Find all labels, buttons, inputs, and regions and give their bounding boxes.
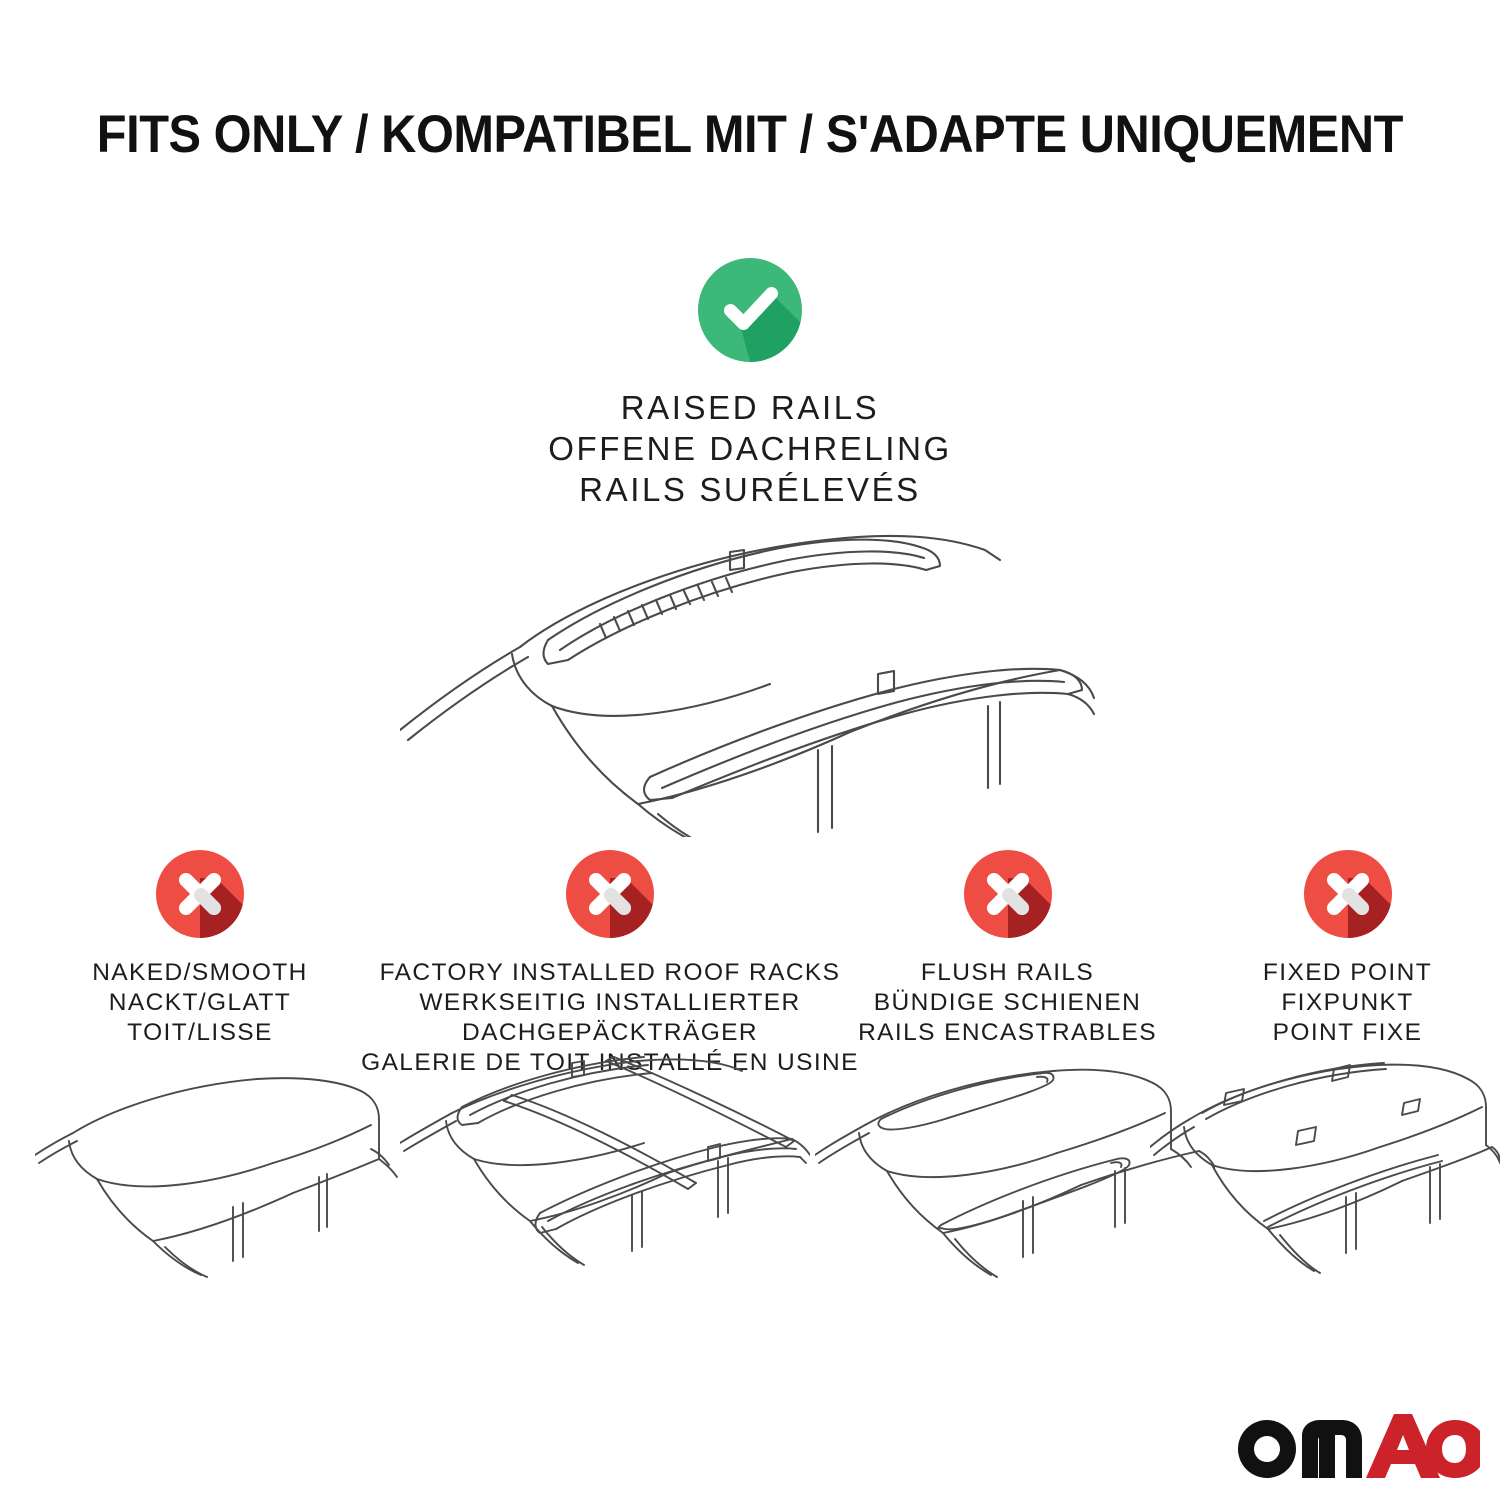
compatible-section: RAISED RAILS OFFENE DACHRELING RAILS SUR…: [0, 255, 1500, 510]
cross-circle-icon: [962, 848, 1054, 940]
incompatible-label-de: FIXPUNKT: [1263, 988, 1432, 1018]
incompatible-item-factory-racks: FACTORY INSTALLED ROOF RACKS WERKSEITIG …: [400, 848, 820, 1078]
omac-logo: OMAC: [1236, 1404, 1480, 1480]
incompatible-label-fr: POINT FIXE: [1263, 1018, 1432, 1048]
page-title: FITS ONLY / KOMPATIBEL MIT / S'ADAPTE UN…: [0, 104, 1500, 165]
omac-logo-text: OMAC: [1480, 1404, 1481, 1405]
incompatible-drawings: [0, 1055, 1500, 1285]
incompatible-label-fr: RAILS ENCASTRABLES: [858, 1018, 1157, 1048]
cross-circle-icon: [154, 848, 246, 940]
compatible-label-de: OFFENE DACHRELING: [548, 428, 952, 469]
incompatible-label-en: FLUSH RAILS: [858, 958, 1157, 988]
incompatible-section: NAKED/SMOOTH NACKT/GLATT TOIT/LISSE FACT: [0, 848, 1500, 1078]
cross-circle-icon: [1302, 848, 1394, 940]
incompatible-label-de: BÜNDIGE SCHIENEN: [858, 988, 1157, 1018]
car-roof-naked-smooth-drawing: [35, 1055, 425, 1285]
cross-circle-icon: [564, 848, 656, 940]
car-roof-fixed-point-drawing: [1150, 1055, 1500, 1285]
page-title-text: FITS ONLY / KOMPATIBEL MIT / S'ADAPTE UN…: [97, 104, 1403, 165]
incompatible-item-flush-rails: FLUSH RAILS BÜNDIGE SCHIENEN RAILS ENCAS…: [820, 848, 1195, 1048]
compatible-label-en: RAISED RAILS: [548, 387, 952, 428]
incompatible-label-stack: NAKED/SMOOTH NACKT/GLATT TOIT/LISSE: [92, 958, 308, 1048]
incompatible-item-naked-smooth: NAKED/SMOOTH NACKT/GLATT TOIT/LISSE: [0, 848, 400, 1048]
incompatible-label-stack: FLUSH RAILS BÜNDIGE SCHIENEN RAILS ENCAS…: [858, 958, 1157, 1048]
incompatible-label-en: NAKED/SMOOTH: [92, 958, 308, 988]
incompatible-label-fr: TOIT/LISSE: [92, 1018, 308, 1048]
incompatible-label-de: NACKT/GLATT: [92, 988, 308, 1018]
car-roof-raised-rails-drawing: [400, 492, 1130, 837]
check-circle-icon: [695, 255, 805, 365]
incompatible-item-fixed-point: FIXED POINT FIXPUNKT POINT FIXE: [1195, 848, 1500, 1048]
incompatible-label-en: FIXED POINT: [1263, 958, 1432, 988]
incompatible-label-de-2: DACHGEPÄCKTRÄGER: [361, 1018, 859, 1048]
incompatible-label-de-1: WERKSEITIG INSTALLIERTER: [361, 988, 859, 1018]
car-roof-factory-racks-drawing: [400, 1055, 810, 1285]
incompatible-label-en: FACTORY INSTALLED ROOF RACKS: [361, 958, 859, 988]
incompatible-label-stack: FIXED POINT FIXPUNKT POINT FIXE: [1263, 958, 1432, 1048]
